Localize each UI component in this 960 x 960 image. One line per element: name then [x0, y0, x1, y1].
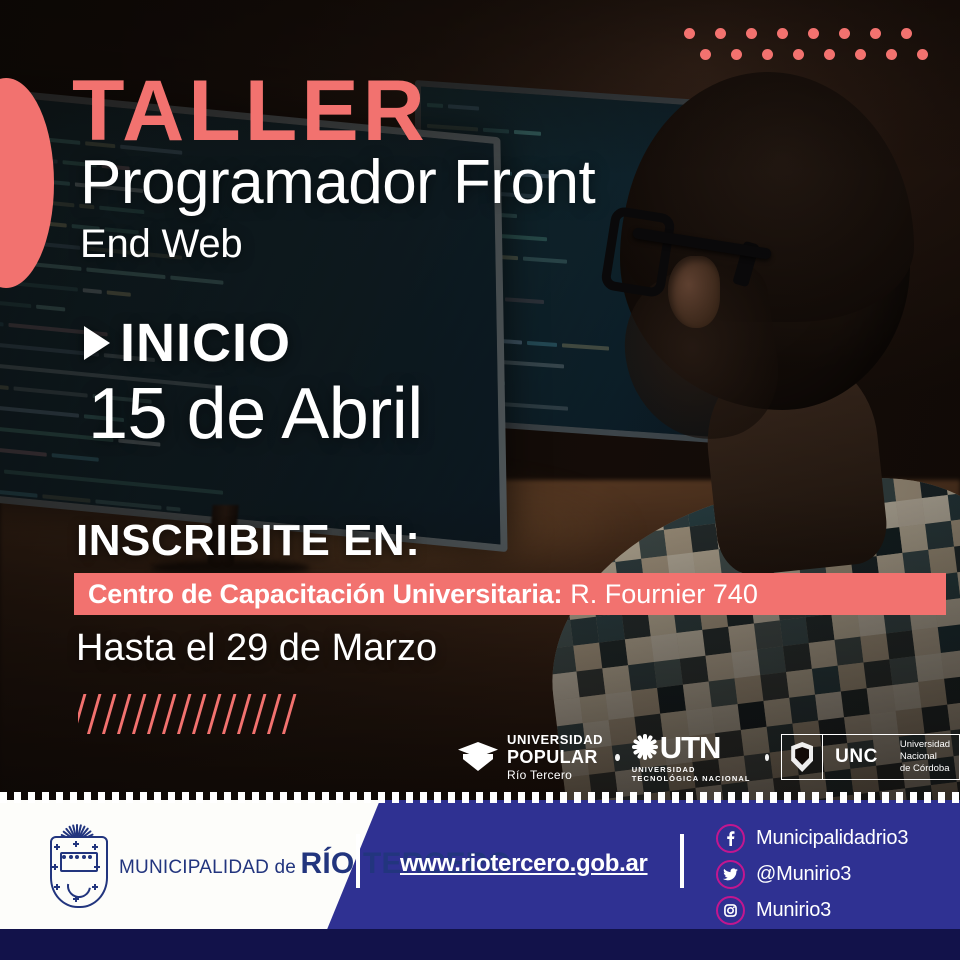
up-line1: UNIVERSIDAD [507, 732, 603, 747]
logo-unc: UNC Universidad Nacional de Córdoba [781, 734, 960, 780]
up-line3: Río Tercero [507, 768, 572, 782]
social-links: Municipalidadrio3 @Munirio3 Munirio3 [716, 824, 908, 925]
municipality-crest-icon [48, 822, 106, 906]
unc-name-line3: de Córdoba [900, 763, 950, 774]
utn-abbr: UTN [660, 732, 721, 763]
logo-universidad-popular: UNIVERSIDAD POPULAR Río Tercero [458, 732, 603, 783]
facebook-icon [716, 824, 745, 853]
partner-logos: UNIVERSIDAD POPULAR Río Tercero UTN UNIV… [458, 726, 960, 788]
logo-separator-dot [765, 754, 770, 761]
course-title-line2: End Web [80, 224, 242, 264]
register-location-bar: Centro de Capacitación Universitaria: R.… [74, 573, 946, 615]
poster: TALLER Programador Front End Web INICIO … [0, 0, 960, 960]
twitter-handle: @Munirio3 [756, 863, 851, 886]
instagram-icon [716, 896, 745, 925]
unc-name-line2: Nacional [900, 751, 937, 762]
register-address: R. Fournier 740 [570, 579, 758, 610]
register-label: INSCRIBITE EN: [76, 519, 420, 563]
footer-bottom-strip [0, 929, 960, 960]
logo-utn: UTN UNIVERSIDAD TECNOLÓGICA NACIONAL [632, 732, 753, 783]
footer-divider-1 [356, 834, 360, 888]
slash-decoration [78, 694, 300, 734]
logo-separator-dot [615, 754, 620, 761]
municipality-line1: MUNICIPALIDAD de [119, 857, 296, 878]
perforated-divider [0, 792, 960, 803]
sun-of-may-icon [632, 734, 658, 760]
deadline-text: Hasta el 29 de Marzo [76, 629, 437, 667]
unc-abbr: UNC [822, 735, 890, 779]
course-title-line1: Programador Front [80, 152, 595, 214]
social-link-twitter[interactable]: @Munirio3 [716, 860, 908, 889]
social-link-instagram[interactable]: Munirio3 [716, 896, 908, 925]
utn-full-name: UNIVERSIDAD TECNOLÓGICA NACIONAL [632, 765, 753, 783]
start-date: 15 de Abril [88, 378, 423, 450]
unc-crest-icon [782, 742, 822, 772]
up-line2: POPULAR [507, 747, 598, 767]
footer: MUNICIPALIDAD de RÍO TERCERO www.rioterc… [0, 800, 960, 960]
facebook-handle: Municipalidadrio3 [756, 827, 908, 850]
graduation-cap-icon [458, 740, 502, 774]
start-row: INICIO [84, 316, 291, 370]
register-place: Centro de Capacitación Universitaria: [88, 579, 562, 610]
page-title: TALLER [72, 68, 429, 154]
footer-divider-2 [680, 834, 684, 888]
instagram-handle: Munirio3 [756, 899, 831, 922]
start-label: INICIO [120, 316, 291, 370]
dot-grid-decoration [684, 28, 938, 74]
twitter-icon [716, 860, 745, 889]
social-link-facebook[interactable]: Municipalidadrio3 [716, 824, 908, 853]
website-link[interactable]: www.riotercero.gob.ar [400, 850, 648, 878]
play-triangle-icon [84, 326, 110, 360]
unc-name-line1: Universidad [900, 739, 950, 750]
